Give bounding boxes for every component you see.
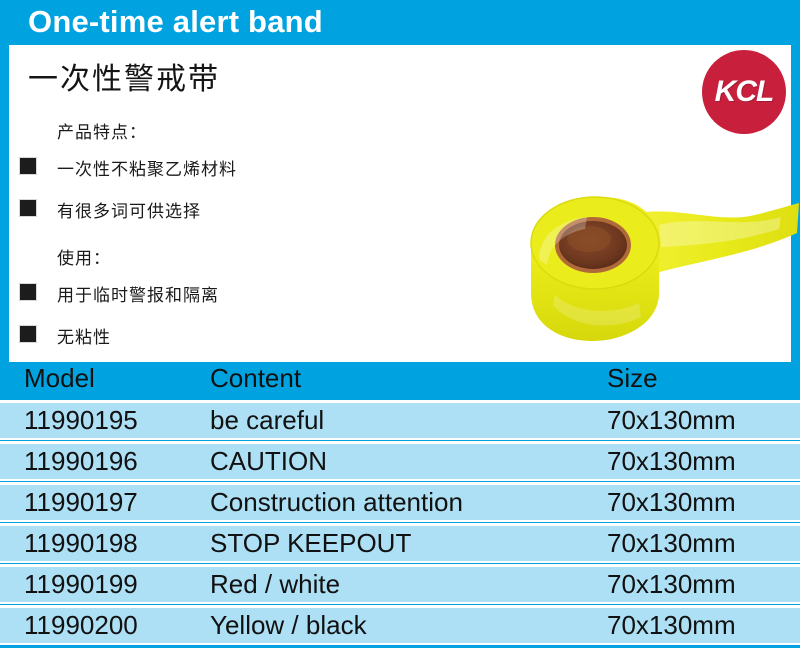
- product-info-area: 一次性警戒带 产品特点： 一次性不粘聚乙烯材料 有很多词可供选择 使用： 用于临…: [9, 45, 791, 362]
- cell-content: be careful: [210, 405, 324, 436]
- cell-content: Red / white: [210, 569, 340, 600]
- cell-size: 70x130mm: [607, 528, 736, 559]
- cell-content: STOP KEEPOUT: [210, 528, 411, 559]
- table-row[interactable]: 11990200 Yellow / black 70x130mm: [0, 605, 800, 645]
- cell-model: 11990196: [24, 446, 138, 477]
- cell-model: 11990199: [24, 569, 138, 600]
- brand-logo: KCL: [702, 50, 786, 134]
- barrier-tape-roll-illustration: [509, 185, 800, 365]
- usage-heading: 使用：: [57, 244, 111, 269]
- cell-size: 70x130mm: [607, 446, 736, 477]
- table-row[interactable]: 11990197 Construction attention 70x130mm: [0, 482, 800, 522]
- cell-size: 70x130mm: [607, 405, 736, 436]
- cell-model: 11990198: [24, 528, 138, 559]
- table-row[interactable]: 11990198 STOP KEEPOUT 70x130mm: [0, 523, 800, 563]
- features-heading: 产品特点：: [57, 118, 147, 143]
- cell-size: 70x130mm: [607, 487, 736, 518]
- cell-size: 70x130mm: [607, 610, 736, 641]
- feature-text: 一次性不粘聚乙烯材料: [57, 155, 237, 180]
- table-row[interactable]: 11990195 be careful 70x130mm: [0, 400, 800, 440]
- title-bar: One-time alert band: [0, 0, 800, 45]
- column-header-model: Model: [24, 363, 95, 394]
- cell-model: 11990195: [24, 405, 138, 436]
- square-bullet-icon: [19, 157, 37, 175]
- cell-content: CAUTION: [210, 446, 327, 477]
- square-bullet-icon: [19, 283, 37, 301]
- cell-size: 70x130mm: [607, 569, 736, 600]
- square-bullet-icon: [19, 325, 37, 343]
- square-bullet-icon: [19, 199, 37, 217]
- column-header-size: Size: [607, 363, 658, 394]
- left-border-strip: [0, 45, 9, 362]
- feature-text: 有很多词可供选择: [57, 197, 201, 222]
- column-header-content: Content: [210, 363, 301, 394]
- product-datasheet-page: One-time alert band 一次性警戒带 产品特点： 一次性不粘聚乙…: [0, 0, 800, 648]
- page-title-english: One-time alert band: [28, 4, 323, 40]
- cell-model: 11990197: [24, 487, 138, 518]
- cell-model: 11990200: [24, 610, 138, 641]
- table-row[interactable]: 11990199 Red / white 70x130mm: [0, 564, 800, 604]
- brand-logo-text: KCL: [702, 50, 786, 134]
- cell-content: Construction attention: [210, 487, 463, 518]
- usage-text: 用于临时警报和隔离: [57, 281, 219, 306]
- table-header-row: Model Content Size: [0, 362, 800, 400]
- cell-content: Yellow / black: [210, 610, 367, 641]
- usage-text: 无粘性: [57, 323, 111, 348]
- table-row[interactable]: 11990196 CAUTION 70x130mm: [0, 441, 800, 481]
- page-title-chinese: 一次性警戒带: [28, 54, 220, 98]
- specification-table: Model Content Size 11990195 be careful 7…: [0, 362, 800, 648]
- product-image: [509, 185, 800, 365]
